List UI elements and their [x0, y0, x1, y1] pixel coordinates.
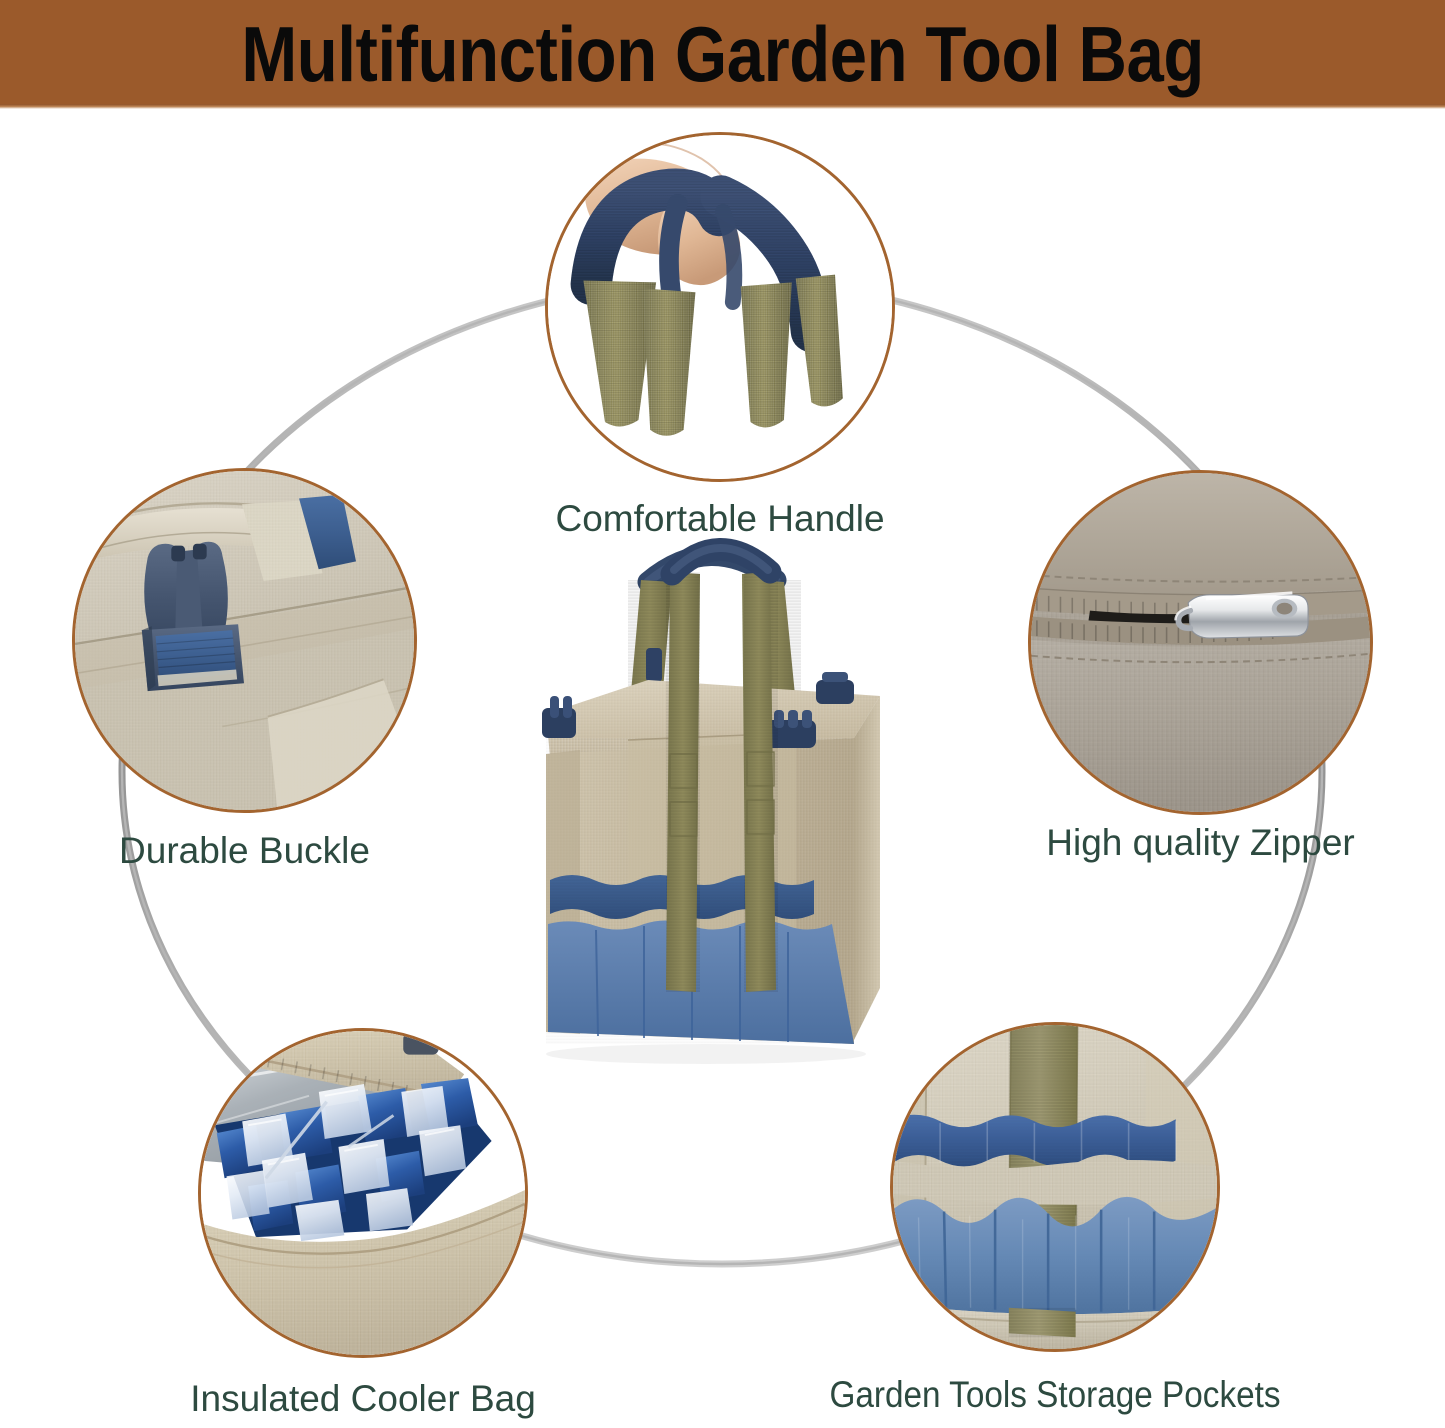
bubble-garden-tools-storage-pockets[interactable] [890, 1022, 1220, 1352]
callout-high-quality-zipper[interactable]: High quality Zipper [1028, 470, 1373, 970]
infographic-stage: Comfortable Handle [0, 108, 1445, 1424]
callout-label-garden-tools-storage-pockets: Garden Tools Storage Pockets [745, 1374, 1366, 1416]
hand-holding-handle-icon [548, 135, 892, 479]
callout-durable-buckle[interactable]: Durable Buckle [72, 468, 417, 968]
callout-garden-tools-storage-pockets[interactable]: Garden Tools Storage Pockets [890, 1022, 1220, 1422]
header-banner: Multifunction Garden Tool Bag [0, 0, 1445, 108]
callout-label-comfortable-handle: Comfortable Handle [545, 498, 895, 540]
callout-label-durable-buckle: Durable Buckle [72, 830, 417, 872]
elastic-loops-pockets-icon [893, 1025, 1217, 1349]
callout-label-high-quality-zipper: High quality Zipper [908, 822, 1445, 864]
zipper-pull-icon [1031, 473, 1370, 812]
callout-comfortable-handle[interactable]: Comfortable Handle [545, 132, 895, 632]
page-title: Multifunction Garden Tool Bag [241, 15, 1204, 93]
bubble-comfortable-handle[interactable] [545, 132, 895, 482]
callout-label-insulated-cooler-bag: Insulated Cooler Bag [138, 1378, 588, 1420]
callout-insulated-cooler-bag[interactable]: Insulated Cooler Bag [198, 1028, 528, 1428]
side-release-buckle-icon [75, 471, 414, 810]
bubble-insulated-cooler-bag[interactable] [198, 1028, 528, 1358]
bubble-durable-buckle[interactable] [72, 468, 417, 813]
ice-cubes-cooler-icon [201, 1031, 525, 1355]
bubble-high-quality-zipper[interactable] [1028, 470, 1373, 815]
